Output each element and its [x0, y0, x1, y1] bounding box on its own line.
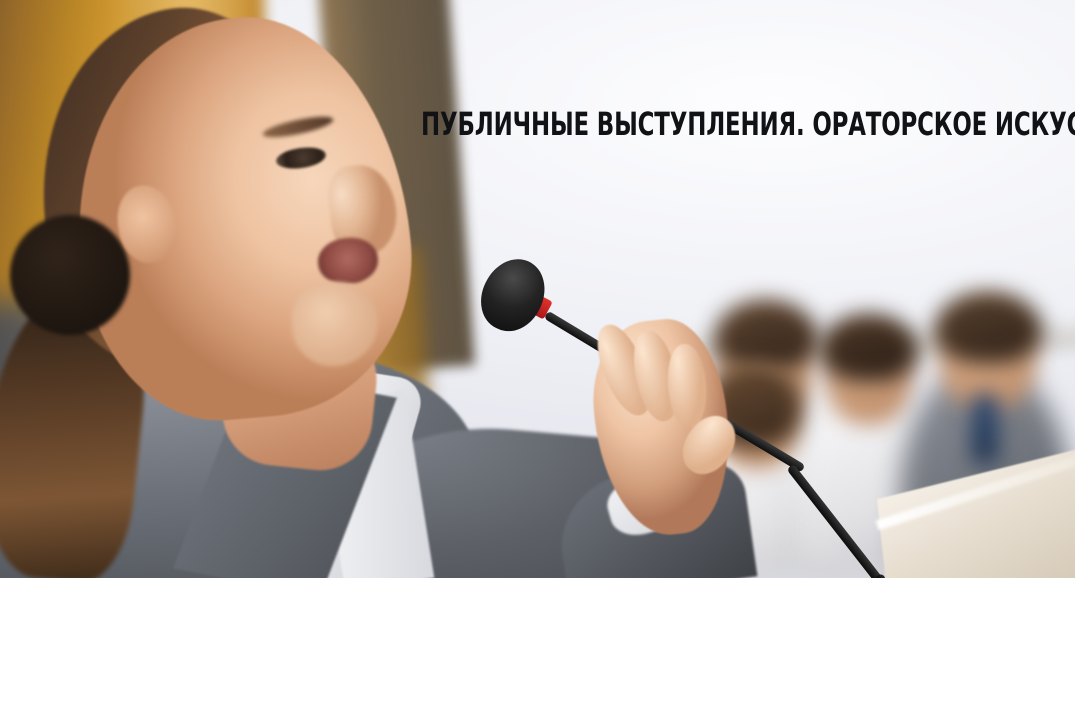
- sponsor-logo-bar: МАЛОЕ И СРЕДНЕЕ ПРЕДПРИНИМАТЕЛЬСТВО НАЦИ…: [0, 578, 1075, 720]
- audience-member-hair: [820, 314, 918, 382]
- audience-member-hair: [934, 292, 1042, 364]
- poster-canvas: ПУБЛИЧНЫЕ ВЫСТУПЛЕНИЯ. ОРАТОРСКОЕ ИСКУСС…: [0, 0, 1075, 720]
- page-title: ПУБЛИЧНЫЕ ВЫСТУПЛЕНИЯ. ОРАТОРСКОЕ ИСКУСС…: [421, 107, 938, 141]
- hero-photo: ПУБЛИЧНЫЕ ВЫСТУПЛЕНИЯ. ОРАТОРСКОЕ ИСКУСС…: [0, 0, 1075, 578]
- speaker-hair-bun: [10, 215, 130, 335]
- audience-member-tie: [972, 394, 998, 464]
- audience-member-hair: [714, 300, 818, 372]
